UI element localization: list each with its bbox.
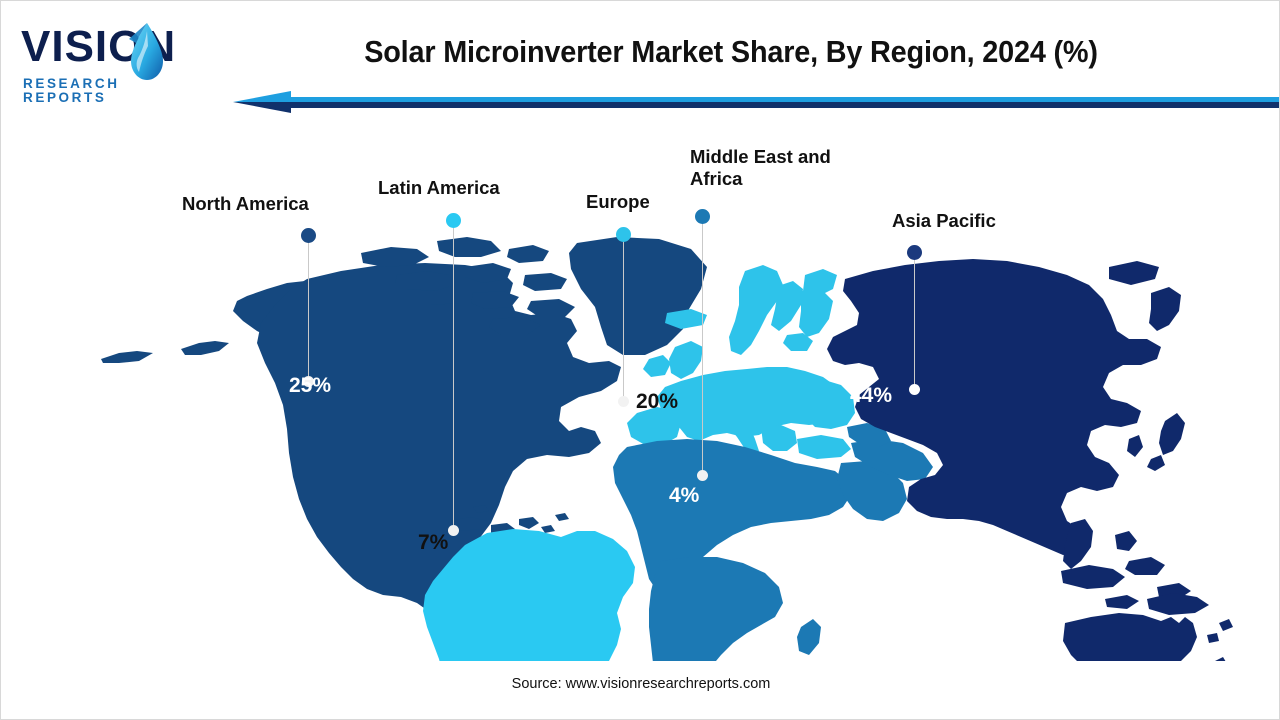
region-value-asia-pacific: 44%	[850, 384, 892, 408]
region-leader-line-asia-pacific	[914, 260, 915, 390]
water-drop-icon	[125, 21, 165, 83]
region-leader-line-europe	[623, 242, 624, 402]
region-label-latin-america: Latin America	[378, 177, 500, 199]
region-leader-tip-latin-america	[448, 525, 459, 536]
region-label-asia-pacific: Asia Pacific	[892, 210, 996, 232]
region-label-middle-east-africa: Middle East and Africa	[690, 146, 840, 190]
brand-logo: VISION RESEARCH REPORTS	[21, 21, 196, 91]
map-region-middle-east-africa[interactable]	[613, 423, 933, 661]
world-map	[61, 231, 1241, 661]
page-title: Solar Microinverter Market Share, By Reg…	[247, 34, 1214, 70]
region-value-europe: 20%	[636, 390, 678, 414]
infographic-page: VISION RESEARCH REPORTS Solar Microinver…	[0, 0, 1280, 720]
brand-tagline: RESEARCH REPORTS	[23, 77, 196, 104]
region-dot-north-america[interactable]	[301, 228, 316, 243]
region-dot-asia-pacific[interactable]	[907, 245, 922, 260]
region-leader-line-latin-america	[453, 228, 454, 530]
region-dot-middle-east-africa[interactable]	[695, 209, 710, 224]
region-label-europe: Europe	[586, 191, 650, 213]
region-value-north-america: 25%	[289, 374, 331, 398]
region-value-middle-east-africa: 4%	[669, 484, 699, 508]
region-leader-tip-middle-east-africa	[697, 470, 708, 481]
region-leader-line-north-america	[308, 243, 309, 382]
region-label-north-america: North America	[182, 193, 309, 215]
left-arrow-bar-icon	[233, 89, 1279, 115]
region-leader-tip-europe	[618, 396, 629, 407]
region-value-latin-america: 7%	[418, 531, 448, 555]
source-note: Source: www.visionresearchreports.com	[1, 676, 1280, 692]
region-leader-tip-asia-pacific	[909, 384, 920, 395]
region-dot-latin-america[interactable]	[446, 213, 461, 228]
region-leader-line-middle-east-africa	[702, 224, 703, 476]
region-dot-europe[interactable]	[616, 227, 631, 242]
